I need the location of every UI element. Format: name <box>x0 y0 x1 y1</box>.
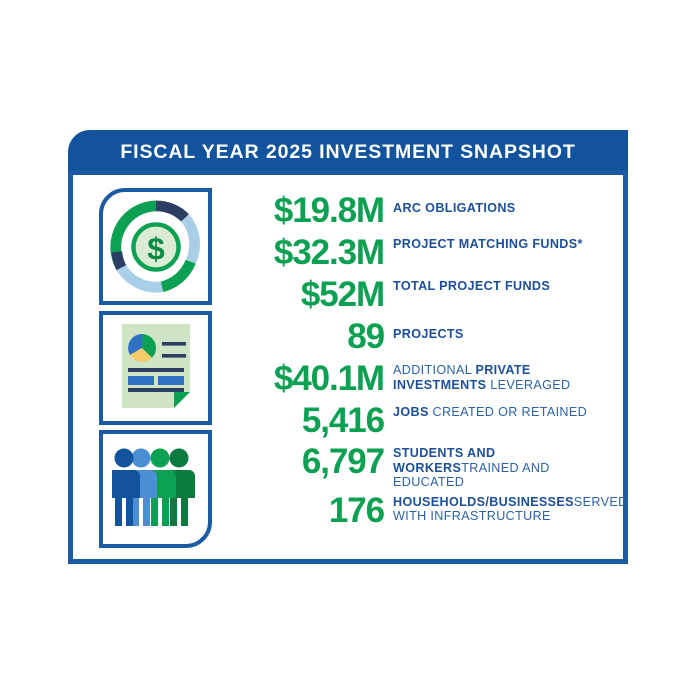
stat-label: ARC OBLIGATIONS <box>384 190 612 216</box>
stat-label-part: ARC OBLIGATIONS <box>393 201 516 215</box>
stat-row: $32.3MPROJECT MATCHING FUNDS* <box>232 232 612 273</box>
document-report-icon <box>103 322 208 410</box>
stat-label: JOBS CREATED OR RETAINED <box>384 400 612 420</box>
donut-chart-dollar-icon: $ <box>103 198 208 296</box>
stat-row: $40.1MADDITIONAL PRIVATE INVESTMENTS LEV… <box>232 358 612 399</box>
svg-text:$: $ <box>147 232 164 267</box>
stat-label: TOTAL PROJECT FUNDS <box>384 274 612 294</box>
stat-value: 176 <box>232 490 384 531</box>
stat-label: ADDITIONAL PRIVATE INVESTMENTS LEVERAGED <box>384 358 612 392</box>
stat-value: $40.1M <box>232 358 384 399</box>
stat-value: $52M <box>232 274 384 315</box>
stat-label-part: PROJECTS <box>393 327 464 341</box>
stats-list: $19.8MARC OBLIGATIONS$32.3MPROJECT MATCH… <box>232 190 612 531</box>
stat-value: 5,416 <box>232 400 384 441</box>
stat-row: 89PROJECTS <box>232 316 612 357</box>
stat-label: HOUSEHOLDS/BUSINESSESSERVED WITH INFRAST… <box>384 490 628 524</box>
stat-row: 5,416JOBS CREATED OR RETAINED <box>232 400 612 441</box>
header-bar: FISCAL YEAR 2025 INVESTMENT SNAPSHOT <box>68 130 628 175</box>
stat-value: 89 <box>232 316 384 357</box>
icon-box-projects <box>99 311 212 425</box>
icon-box-people <box>99 430 212 548</box>
stat-label-part: TOTAL PROJECT FUNDS <box>393 279 550 293</box>
page-title: FISCAL YEAR 2025 INVESTMENT SNAPSHOT <box>120 141 575 164</box>
stat-label-part: LEVERAGED <box>490 378 570 392</box>
stat-label: PROJECT MATCHING FUNDS* <box>384 232 612 252</box>
stat-label-part: JOBS <box>393 405 433 419</box>
investment-snapshot-infographic: FISCAL YEAR 2025 INVESTMENT SNAPSHOT <box>0 0 700 700</box>
stat-label: STUDENTS AND WORKERSTRAINED AND EDUCATED <box>384 441 612 490</box>
stat-value: $32.3M <box>232 232 384 273</box>
stat-row: 176HOUSEHOLDS/BUSINESSESSERVED WITH INFR… <box>232 490 612 531</box>
stat-value: $19.8M <box>232 190 384 231</box>
stat-label-part: HOUSEHOLDS/BUSINESSES <box>393 495 574 509</box>
stat-value: 6,797 <box>232 441 384 482</box>
stat-label-part: PROJECT MATCHING FUNDS* <box>393 237 583 251</box>
stat-label-part: ADDITIONAL <box>393 363 475 377</box>
stat-label: PROJECTS <box>384 316 612 342</box>
stat-row: 6,797STUDENTS AND WORKERSTRAINED AND EDU… <box>232 441 612 490</box>
stat-row: $19.8MARC OBLIGATIONS <box>232 190 612 231</box>
stat-label-part: CREATED OR RETAINED <box>433 405 588 419</box>
icon-box-funding: $ <box>99 188 212 305</box>
stat-row: $52MTOTAL PROJECT FUNDS <box>232 274 612 315</box>
people-group-icon <box>103 446 208 530</box>
